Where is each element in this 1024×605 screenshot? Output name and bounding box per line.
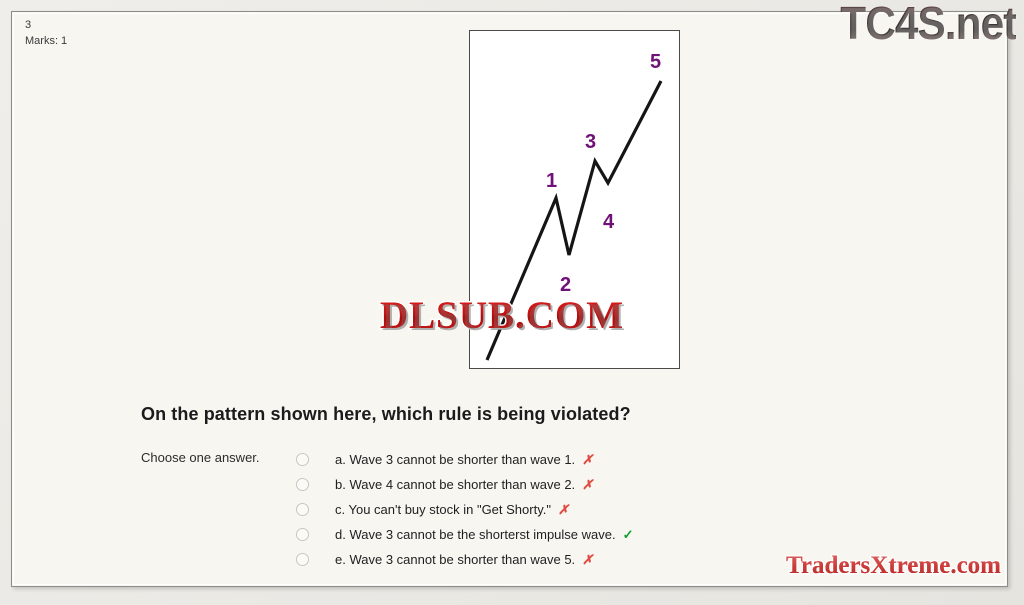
- wave-label-5: 5: [650, 51, 661, 74]
- dlsub-watermark-fill: DLSUB.COM: [380, 293, 624, 338]
- incorrect-cross-icon: ✗: [582, 477, 593, 493]
- answer-option-row[interactable]: d. Wave 3 cannot be the shorterst impuls…: [296, 522, 766, 547]
- answer-option-label[interactable]: d. Wave 3 cannot be the shorterst impuls…: [335, 527, 616, 542]
- page-title: On the pattern shown here, which rule is…: [141, 404, 631, 425]
- wave-label-3: 3: [585, 131, 596, 154]
- radio-button-option-5[interactable]: [296, 553, 309, 566]
- quiz-question-panel: 3 Marks: 1 12345 On the pattern shown he…: [11, 11, 1008, 587]
- incorrect-cross-icon: ✗: [582, 552, 593, 568]
- question-number: 3: [25, 18, 325, 33]
- tradersxtreme-watermark: TradersXtreme.com TradersXtreme.com: [786, 552, 1001, 580]
- question-header: 3 Marks: 1: [25, 18, 325, 49]
- answer-option-row[interactable]: b. Wave 4 cannot be shorter than wave 2.…: [296, 472, 766, 497]
- wave-label-1: 1: [546, 170, 557, 193]
- answer-option-label[interactable]: e. Wave 3 cannot be shorter than wave 5.: [335, 552, 575, 567]
- answer-option-list: a. Wave 3 cannot be shorter than wave 1.…: [296, 447, 766, 572]
- answer-option-row[interactable]: a. Wave 3 cannot be shorter than wave 1.…: [296, 447, 766, 472]
- question-marks: Marks: 1: [25, 33, 325, 49]
- radio-button-option-3[interactable]: [296, 503, 309, 516]
- choose-one-answer-label: Choose one answer.: [141, 450, 260, 465]
- correct-check-icon: ✓: [623, 527, 634, 543]
- answer-option-label[interactable]: a. Wave 3 cannot be shorter than wave 1.: [335, 452, 575, 467]
- answer-option-label[interactable]: c. You can't buy stock in "Get Shorty.": [335, 502, 551, 517]
- tc4s-logo: TC4S.net: [840, 0, 1016, 50]
- dlsub-watermark: DLSUB.COM DLSUB.COM: [380, 293, 624, 338]
- page-root: 3 Marks: 1 12345 On the pattern shown he…: [0, 0, 1024, 605]
- answer-option-row[interactable]: e. Wave 3 cannot be shorter than wave 5.…: [296, 547, 766, 572]
- answer-option-label[interactable]: b. Wave 4 cannot be shorter than wave 2.: [335, 477, 575, 492]
- radio-button-option-1[interactable]: [296, 453, 309, 466]
- incorrect-cross-icon: ✗: [558, 502, 569, 518]
- radio-button-option-4[interactable]: [296, 528, 309, 541]
- tradersxtreme-watermark-fill: TradersXtreme.com: [786, 552, 1001, 580]
- incorrect-cross-icon: ✗: [582, 452, 593, 468]
- radio-button-option-2[interactable]: [296, 478, 309, 491]
- wave-label-4: 4: [603, 211, 614, 234]
- answer-option-row[interactable]: c. You can't buy stock in "Get Shorty."✗: [296, 497, 766, 522]
